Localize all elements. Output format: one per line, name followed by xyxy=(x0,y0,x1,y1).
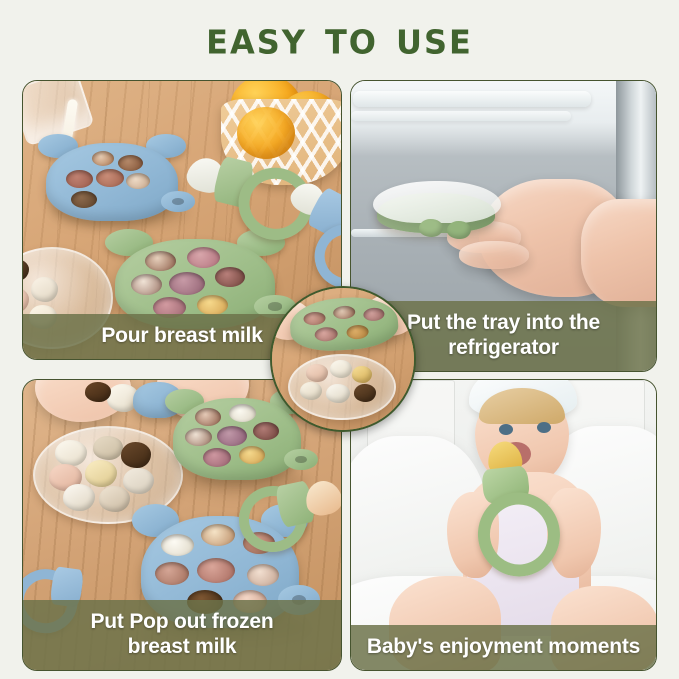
frozen-cube xyxy=(63,484,95,511)
freezer-coil-bar xyxy=(353,91,591,107)
infographic-root: Easy to use xyxy=(0,0,679,679)
tray-cavity xyxy=(195,408,221,426)
tray-tab-hole xyxy=(284,449,317,470)
caption-line-2: breast milk xyxy=(128,635,237,658)
tray-cavity xyxy=(71,191,97,208)
tray-foot xyxy=(419,219,443,237)
tray-cavity xyxy=(155,562,189,585)
caption-line-2: refrigerator xyxy=(448,336,559,359)
frozen-cube-in-hand xyxy=(85,382,111,402)
frozen-cube xyxy=(99,486,130,512)
frozen-cube xyxy=(352,366,372,383)
tray-blue xyxy=(46,143,178,221)
hand-finger xyxy=(459,241,529,269)
frozen-cube xyxy=(93,436,123,460)
tray-cavity xyxy=(229,404,256,422)
tray-cavity xyxy=(169,272,205,295)
tray-lid xyxy=(373,181,501,223)
caption-line-1: Put Pop out frozen xyxy=(90,610,273,633)
tray-cavity xyxy=(126,173,150,189)
tray-cavity xyxy=(203,448,231,467)
tray-cavity xyxy=(131,274,162,295)
caption-babys-enjoyment-moments: Baby's enjoyment moments xyxy=(351,625,656,670)
frozen-cube xyxy=(55,440,87,466)
frozen-cube xyxy=(326,384,350,403)
frozen-cube xyxy=(123,468,154,494)
tray-cavity xyxy=(92,151,114,166)
tray-cavity xyxy=(145,251,176,271)
frozen-cube xyxy=(354,384,376,402)
tray-cavity xyxy=(197,295,228,315)
tray-cavity xyxy=(66,170,93,188)
tray-cavity xyxy=(96,169,124,187)
scene-inset-pop-out xyxy=(272,288,414,430)
orange-fruit xyxy=(237,107,295,159)
tray-cavity xyxy=(217,426,247,446)
frozen-cube xyxy=(31,277,58,302)
frozen-cube xyxy=(121,442,151,468)
center-inset-circle xyxy=(270,286,416,432)
tray-body xyxy=(288,294,399,353)
caption-pop-out-frozen-breast-milk: Put Pop out frozen breast milk xyxy=(23,600,341,670)
page-title: Easy to use xyxy=(0,7,679,67)
tray-cavity xyxy=(185,428,212,446)
baby-eye xyxy=(499,424,513,435)
freezer-coil-bar xyxy=(351,111,571,121)
fruit-feeder-green-in-use xyxy=(460,439,545,576)
frozen-cube xyxy=(330,360,352,378)
tray-cavity xyxy=(161,534,194,556)
caption-line-1: Put the tray into the xyxy=(407,311,600,334)
tray-green-tilted xyxy=(288,294,399,353)
frozen-cube xyxy=(306,364,328,382)
tray-cavity xyxy=(201,524,235,546)
frozen-cube xyxy=(300,382,322,400)
baby-eye xyxy=(537,422,551,433)
tray-cavity xyxy=(247,564,279,586)
tray-cavity xyxy=(187,247,220,268)
hand-forearm xyxy=(581,199,656,307)
tray-cavity xyxy=(197,558,235,583)
frozen-cube xyxy=(85,460,117,487)
tray-foot xyxy=(447,221,471,239)
tray-cavity xyxy=(215,267,245,287)
tray-cavity xyxy=(118,155,143,171)
tray-cavity xyxy=(239,446,265,464)
